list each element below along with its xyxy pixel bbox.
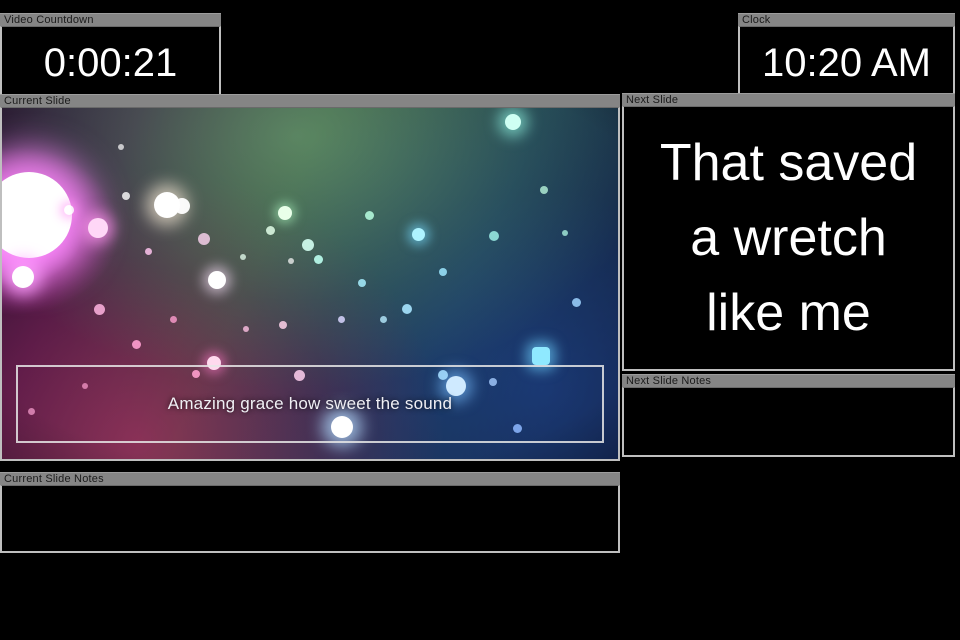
next-slide-line-3: like me <box>660 276 917 351</box>
video-countdown-panel: Video Countdown 0:00:21 <box>0 13 221 101</box>
next-slide-line-1: That saved <box>660 126 917 201</box>
video-countdown-header: Video Countdown <box>0 13 221 26</box>
next-slide-header: Next Slide <box>622 93 955 106</box>
next-slide-text: That saved a wretch like me <box>654 126 923 351</box>
current-slide-lyric-text: Amazing grace how sweet the sound <box>168 394 452 414</box>
next-slide-body: That saved a wretch like me <box>622 106 955 371</box>
next-slide-notes-panel: Next Slide Notes <box>622 374 955 457</box>
current-slide-notes-body <box>0 485 620 553</box>
current-slide-header: Current Slide <box>0 94 620 107</box>
current-slide-notes-header: Current Slide Notes <box>0 472 620 485</box>
next-slide-panel: Next Slide That saved a wretch like me <box>622 93 955 371</box>
next-slide-notes-text <box>624 388 953 396</box>
next-slide-line-2: a wretch <box>660 201 917 276</box>
current-slide-panel: Current Slide <box>0 94 620 461</box>
clock-value: 10:20 AM <box>762 43 931 83</box>
next-slide-notes-body <box>622 387 955 457</box>
current-slide-notes-panel: Current Slide Notes <box>0 472 620 553</box>
next-slide-notes-header: Next Slide Notes <box>622 374 955 387</box>
video-countdown-body: 0:00:21 <box>0 26 221 101</box>
stage-display: Video Countdown 0:00:21 Clock 10:20 AM C… <box>0 0 960 640</box>
video-countdown-value: 0:00:21 <box>44 43 177 83</box>
current-slide-notes-text <box>2 486 618 494</box>
clock-panel: Clock 10:20 AM <box>738 13 955 101</box>
clock-header: Clock <box>738 13 955 26</box>
current-slide-body: Amazing grace how sweet the sound <box>0 107 620 461</box>
clock-body: 10:20 AM <box>738 26 955 101</box>
current-slide-lyric-box: Amazing grace how sweet the sound <box>16 365 604 443</box>
